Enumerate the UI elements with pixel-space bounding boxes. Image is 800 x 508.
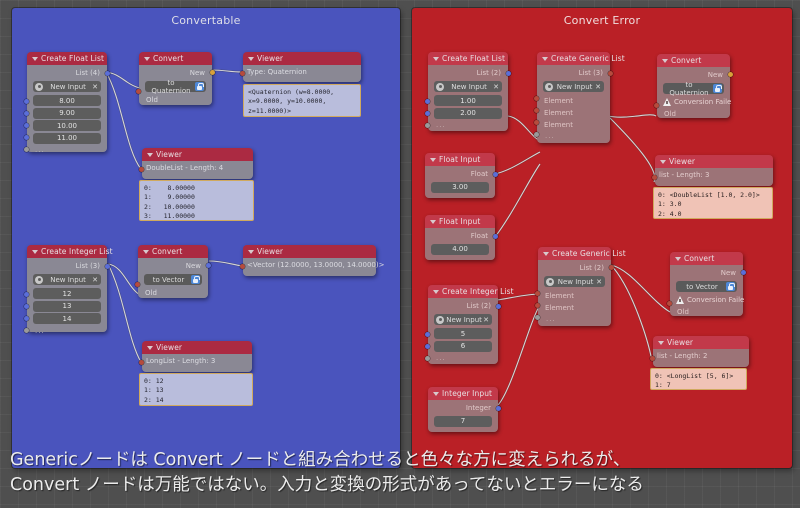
node-body: Integer 7 [428, 400, 498, 432]
value-field[interactable]: 11.00 [33, 133, 101, 144]
viewer-type-label: list - Length: 3 [655, 168, 773, 182]
lock-icon[interactable] [713, 84, 722, 93]
node-title: Viewer [257, 54, 283, 63]
element-input-label: Element [542, 302, 607, 314]
input-label: Old [674, 306, 739, 318]
viewer-doublelist-output: 0: 8.00000 1: 9.00000 2: 10.00000 3: 11.… [139, 180, 254, 221]
node-convert-vector-right[interactable]: Convert New to Vector Conversion Faile O… [670, 252, 743, 316]
collapse-triangle-icon[interactable] [542, 57, 548, 61]
value-field[interactable]: 6 [434, 341, 492, 352]
node-body: Float 4.00 [425, 228, 495, 260]
dropdown-label: to Quaternion [665, 81, 713, 97]
output-label: New [142, 261, 204, 272]
node-header[interactable]: Viewer [655, 155, 773, 168]
collapse-triangle-icon[interactable] [32, 250, 38, 254]
output-label: Integer [432, 403, 494, 414]
node-title: Create Generic List [551, 54, 625, 63]
node-viewer-vector[interactable]: Viewer <Vector (12.0000, 13.0000, 14.000… [243, 245, 376, 276]
dropdown-label: to Vector [146, 276, 191, 284]
node-title: Create Generic List [552, 249, 626, 258]
node-header[interactable]: Convert [138, 245, 208, 258]
input-socket[interactable] [24, 123, 29, 128]
close-icon[interactable]: ✕ [482, 316, 490, 324]
new-input-label: New Input [45, 83, 91, 91]
convert-type-dropdown[interactable]: to Quaternion [663, 83, 724, 94]
gear-icon[interactable] [545, 83, 553, 91]
input-socket-extra[interactable] [24, 147, 29, 152]
new-input-label: New Input [446, 316, 482, 324]
node-title: Convert [671, 56, 701, 65]
node-body: List (2) New Input ✕ Element Element ... [538, 260, 611, 326]
value-field[interactable]: 12 [33, 288, 101, 299]
new-input-row[interactable]: New Input ✕ [543, 81, 604, 92]
collapse-triangle-icon[interactable] [660, 160, 666, 164]
node-body: List (3) New Input ✕ Element Element Ele… [537, 65, 610, 143]
new-input-label: New Input [45, 276, 91, 284]
node-header[interactable]: Create Float List [428, 52, 508, 65]
output-label: New [661, 70, 726, 81]
viewer-type-label: Type: Quaternion [243, 65, 361, 79]
node-header[interactable]: Viewer [142, 341, 252, 354]
element-input-label: Element [541, 95, 606, 107]
collapse-triangle-icon[interactable] [433, 290, 439, 294]
convert-type-dropdown[interactable]: to Quaternion [145, 81, 206, 92]
input-socket[interactable] [425, 332, 430, 337]
node-header[interactable]: Create Generic List [538, 247, 611, 260]
node-body: List (3) New Input ✕ 12 13 14 ... [27, 258, 107, 332]
collapse-triangle-icon[interactable] [430, 220, 436, 224]
node-editor-canvas[interactable]: Convertable Convert Error [0, 0, 800, 508]
input-socket-old[interactable] [654, 103, 659, 108]
collapse-triangle-icon[interactable] [248, 57, 254, 61]
node-body: List (4) New Input ✕ 8.00 9.00 10.00 11.… [27, 65, 107, 152]
frame-convertable-title: Convertable [12, 14, 400, 27]
node-body: list - Length: 2 [653, 349, 749, 367]
viewer-type-label: <Vector (12.0000, 13.0000, 14.0000)> [243, 258, 376, 272]
convert-type-dropdown[interactable]: to Vector [144, 274, 202, 285]
input-label: Old [661, 108, 726, 120]
node-create-integer-list-left[interactable]: Create Integer List List (3) New Input ✕… [27, 245, 107, 332]
node-title: Create Integer List [41, 247, 113, 256]
viewer-longlist-output: 0: 12 1: 13 2: 14 [139, 373, 253, 406]
new-input-row[interactable]: New Input ✕ [434, 314, 492, 325]
node-header[interactable]: Viewer [142, 148, 253, 161]
close-icon[interactable]: ✕ [595, 278, 603, 286]
collapse-triangle-icon[interactable] [543, 252, 549, 256]
output-label: Float [429, 231, 491, 242]
input-socket[interactable] [24, 292, 29, 297]
node-title: Viewer [156, 150, 182, 159]
more-inputs-ellipsis[interactable]: ... [31, 145, 103, 154]
input-socket-element[interactable] [534, 96, 539, 101]
input-socket[interactable] [24, 99, 29, 104]
gear-icon[interactable] [35, 276, 43, 284]
node-convert-vector-left[interactable]: Convert New to Vector Old [138, 245, 208, 298]
node-title: Integer Input [442, 389, 492, 398]
node-create-generic-list-1[interactable]: Create Generic List List (3) New Input ✕… [537, 52, 610, 143]
node-viewer-list-3[interactable]: Viewer list - Length: 3 [655, 155, 773, 186]
input-socket-element[interactable] [534, 120, 539, 125]
input-socket-old[interactable] [136, 89, 141, 94]
output-socket-list[interactable] [105, 264, 110, 269]
value-field[interactable]: 9.00 [33, 108, 101, 119]
output-socket-integer[interactable] [496, 406, 501, 411]
viewer-type-label: LongList - Length: 3 [142, 354, 252, 368]
node-create-float-list-left[interactable]: Create Float List List (4) New Input ✕ 8… [27, 52, 107, 152]
node-title: Convert [152, 247, 182, 256]
node-convert-quaternion-left[interactable]: Convert New to Quaternion Old [139, 52, 212, 105]
node-header[interactable]: Convert [670, 252, 743, 265]
node-header[interactable]: Float Input [425, 215, 495, 228]
more-inputs-ellipsis[interactable]: ... [541, 131, 606, 140]
node-title: Viewer [156, 343, 182, 352]
new-input-row[interactable]: New Input ✕ [33, 274, 101, 285]
input-socket[interactable] [139, 360, 144, 365]
output-socket-new[interactable] [741, 270, 746, 275]
node-body: New to Quaternion Old [139, 65, 212, 105]
node-title: Viewer [257, 247, 283, 256]
node-body: New to Vector Conversion Faile Old [670, 265, 743, 316]
value-field[interactable]: 4.00 [431, 244, 489, 255]
input-socket[interactable] [24, 111, 29, 116]
conversion-error-label: Conversion Faile [687, 296, 744, 304]
viewer-quaternion-output: <Quaternion (w=8.0000, x=9.0000, y=10.00… [243, 84, 361, 117]
collapse-triangle-icon[interactable] [662, 59, 668, 63]
value-field[interactable]: 14 [33, 313, 101, 324]
input-socket-old[interactable] [135, 282, 140, 287]
collapse-triangle-icon[interactable] [32, 57, 38, 61]
input-socket-extra[interactable] [425, 356, 430, 361]
value-field[interactable]: 10.00 [33, 120, 101, 131]
node-header[interactable]: Viewer [653, 336, 749, 349]
collapse-triangle-icon[interactable] [144, 57, 150, 61]
output-socket-list[interactable] [608, 71, 613, 76]
node-body: <Vector (12.0000, 13.0000, 14.0000)> [243, 258, 376, 276]
output-socket-list[interactable] [496, 304, 501, 309]
value-field[interactable]: 1.00 [434, 95, 502, 106]
value-field[interactable]: 7 [434, 416, 492, 427]
node-body: Type: Quaternion [243, 65, 361, 82]
collapse-triangle-icon[interactable] [430, 158, 436, 162]
conversion-error-row: Conversion Faile [661, 96, 726, 108]
caption-text: Genericノードは Convert ノードと組み合わせると色々な方に変えられ… [10, 448, 800, 498]
input-socket[interactable] [24, 304, 29, 309]
node-title: Float Input [439, 217, 480, 226]
gear-icon[interactable] [436, 316, 444, 324]
close-icon[interactable]: ✕ [91, 83, 99, 91]
new-input-label: New Input [555, 83, 594, 91]
dropdown-label: to Vector [678, 283, 726, 291]
node-title: Create Float List [41, 54, 104, 63]
node-title: Viewer [667, 338, 693, 347]
output-socket-new[interactable] [206, 263, 211, 268]
input-label: Old [142, 287, 204, 299]
output-socket-list[interactable] [506, 71, 511, 76]
node-header[interactable]: Create Integer List [27, 245, 107, 258]
collapse-triangle-icon[interactable] [143, 250, 149, 254]
input-socket[interactable] [652, 175, 657, 180]
output-socket-list[interactable] [105, 71, 110, 76]
convert-type-dropdown[interactable]: to Vector [676, 281, 737, 292]
output-label: New [674, 268, 739, 279]
collapse-triangle-icon[interactable] [658, 341, 664, 345]
new-input-label: New Input [446, 83, 492, 91]
input-socket[interactable] [24, 135, 29, 140]
output-socket-new[interactable] [210, 70, 215, 75]
input-socket-element[interactable] [535, 291, 540, 296]
node-title: Viewer [669, 157, 695, 166]
input-label: Old [143, 94, 208, 106]
collapse-triangle-icon[interactable] [675, 257, 681, 261]
conversion-error-label: Conversion Faile [674, 98, 731, 106]
new-input-row[interactable]: New Input ✕ [33, 81, 101, 92]
output-label: List (4) [31, 68, 103, 79]
node-viewer-list-2[interactable]: Viewer list - Length: 2 [653, 336, 749, 367]
node-header[interactable]: Viewer [243, 245, 376, 258]
node-create-integer-list-right[interactable]: Create Integer List List (2) New Input ✕… [428, 285, 498, 364]
node-body: LongList - Length: 3 [142, 354, 252, 372]
node-body: List (2) New Input ✕ 5 6 ... [428, 298, 498, 364]
gear-icon[interactable] [35, 83, 43, 91]
gear-icon[interactable] [436, 83, 444, 91]
element-input-label: Element [541, 119, 606, 131]
collapse-triangle-icon[interactable] [433, 57, 439, 61]
output-label: Float [429, 169, 491, 180]
more-inputs-ellipsis[interactable]: ... [432, 120, 504, 129]
new-input-label: New Input [556, 278, 595, 286]
node-title: Create Float List [442, 54, 505, 63]
node-create-generic-list-2[interactable]: Create Generic List List (2) New Input ✕… [538, 247, 611, 326]
conversion-error-row: Conversion Faile [674, 294, 739, 306]
new-input-row[interactable]: New Input ✕ [544, 276, 605, 287]
node-header[interactable]: Convert [657, 54, 730, 67]
node-title: Convert [684, 254, 714, 263]
lock-icon[interactable] [726, 282, 735, 291]
close-icon[interactable]: ✕ [492, 83, 500, 91]
lock-icon[interactable] [191, 275, 200, 284]
more-inputs-ellipsis[interactable]: ... [432, 353, 494, 362]
node-header[interactable]: Create Generic List [537, 52, 610, 65]
frame-convert-error-title: Convert Error [412, 14, 792, 27]
input-socket[interactable] [24, 316, 29, 321]
dropdown-label: to Quaternion [147, 79, 195, 95]
more-inputs-ellipsis[interactable]: ... [31, 326, 103, 335]
node-create-float-list-right[interactable]: Create Float List List (2) New Input ✕ 1… [428, 52, 508, 131]
node-header[interactable]: Convert [139, 52, 212, 65]
close-icon[interactable]: ✕ [91, 276, 99, 284]
close-icon[interactable]: ✕ [594, 83, 602, 91]
value-field[interactable]: 3.00 [431, 182, 489, 193]
value-field[interactable]: 8.00 [33, 95, 101, 106]
input-socket[interactable] [650, 356, 655, 361]
node-viewer-doublelist[interactable]: Viewer DoubleList - Length: 4 [142, 148, 253, 179]
output-socket-new[interactable] [728, 72, 733, 77]
input-socket[interactable] [425, 344, 430, 349]
output-socket-float[interactable] [493, 172, 498, 177]
node-title: Convert [153, 54, 183, 63]
node-body: Float 3.00 [425, 166, 495, 198]
node-body: List (2) New Input ✕ 1.00 2.00 ... [428, 65, 508, 131]
warning-icon [663, 98, 671, 106]
collapse-triangle-icon[interactable] [433, 392, 439, 396]
value-field[interactable]: 13 [33, 301, 101, 312]
input-socket[interactable] [425, 111, 430, 116]
input-socket-extra[interactable] [534, 132, 539, 137]
viewer-type-label: DoubleList - Length: 4 [142, 161, 253, 175]
input-socket[interactable] [425, 99, 430, 104]
input-socket-extra[interactable] [24, 328, 29, 333]
element-input-label: Element [541, 107, 606, 119]
node-viewer-longlist[interactable]: Viewer LongList - Length: 3 [142, 341, 252, 372]
node-body: New to Vector Old [138, 258, 208, 298]
node-integer-input[interactable]: Integer Input Integer 7 [428, 387, 498, 432]
input-socket[interactable] [240, 264, 245, 269]
lock-icon[interactable] [195, 82, 204, 91]
node-viewer-quaternion[interactable]: Viewer Type: Quaternion [243, 52, 361, 82]
output-label: List (3) [31, 261, 103, 272]
input-socket[interactable] [240, 71, 245, 76]
node-body: list - Length: 3 [655, 168, 773, 186]
node-header[interactable]: Create Float List [27, 52, 107, 65]
more-inputs-ellipsis[interactable]: ... [542, 314, 607, 323]
collapse-triangle-icon[interactable] [248, 250, 254, 254]
output-label: List (2) [432, 301, 494, 312]
gear-icon[interactable] [546, 278, 554, 286]
node-convert-quaternion-right[interactable]: Convert New to Quaternion Conversion Fai… [657, 54, 730, 118]
input-socket-old[interactable] [667, 301, 672, 306]
node-body: DoubleList - Length: 4 [142, 161, 253, 179]
output-label: List (2) [432, 68, 504, 79]
output-label: List (2) [542, 263, 607, 274]
element-input-label: Element [542, 290, 607, 302]
node-header[interactable]: Viewer [243, 52, 361, 65]
node-title: Create Integer List [442, 287, 514, 296]
input-socket[interactable] [139, 167, 144, 172]
warning-icon [676, 296, 684, 304]
viewer-type-label: list - Length: 2 [653, 349, 749, 363]
viewer-list-3-output: 0: <DoubleList [1.0, 2.0]> 1: 3.0 2: 4.0 [653, 187, 773, 219]
output-socket-list[interactable] [609, 265, 614, 270]
input-socket-element[interactable] [535, 303, 540, 308]
collapse-triangle-icon[interactable] [147, 346, 153, 350]
node-header[interactable]: Integer Input [428, 387, 498, 400]
node-float-input-2[interactable]: Float Input Float 4.00 [425, 215, 495, 260]
new-input-row[interactable]: New Input ✕ [434, 81, 502, 92]
output-socket-float[interactable] [493, 234, 498, 239]
viewer-list-2-output: 0: <LongList [5, 6]> 1: 7 [650, 368, 747, 390]
collapse-triangle-icon[interactable] [147, 153, 153, 157]
node-header[interactable]: Float Input [425, 153, 495, 166]
output-label: New [143, 68, 208, 79]
node-body: New to Quaternion Conversion Faile Old [657, 67, 730, 118]
input-socket-extra[interactable] [535, 315, 540, 320]
value-field[interactable]: 2.00 [434, 108, 502, 119]
input-socket-element[interactable] [534, 108, 539, 113]
value-field[interactable]: 5 [434, 328, 492, 339]
node-header[interactable]: Create Integer List [428, 285, 498, 298]
node-float-input-1[interactable]: Float Input Float 3.00 [425, 153, 495, 198]
output-label: List (3) [541, 68, 606, 79]
node-title: Float Input [439, 155, 480, 164]
input-socket-extra[interactable] [425, 123, 430, 128]
